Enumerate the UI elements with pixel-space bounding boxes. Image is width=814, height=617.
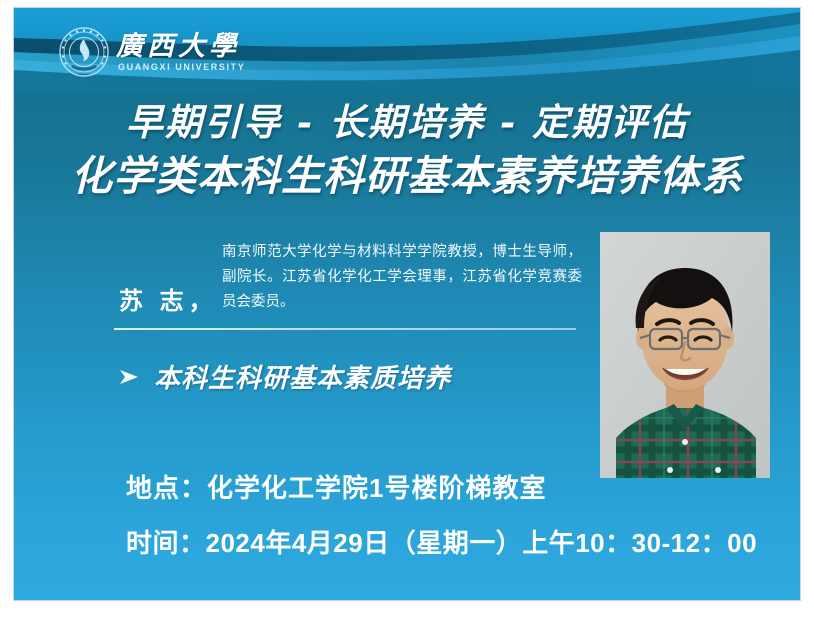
arrow-bullet-icon [118, 366, 140, 388]
logo-name-en: GUANGXI UNIVERSITY [118, 62, 245, 72]
presentation-slide: 廣西大學 GUANGXI UNIVERSITY 早期引导 - 长期培养 - 定期… [14, 8, 800, 600]
speaker-name: 苏 志， [119, 281, 218, 316]
topic-bullet-row: 本科生科研基本素质培养 [118, 358, 451, 395]
logo-name-cn: 廣西大學 [116, 24, 240, 63]
guangxi-university-seal-icon [58, 26, 110, 78]
university-logo: 廣西大學 GUANGXI UNIVERSITY [58, 22, 278, 88]
speaker-portrait [600, 232, 770, 478]
speaker-info: 苏 志， 南京师范大学化学与材料科学学院教授，博士生导师，副院长。江苏省化学化工… [114, 240, 584, 330]
title-line-1: 早期引导 - 长期培养 - 定期评估 [14, 96, 800, 148]
time-line: 时间：2024年4月29日（星期一）上午10：30-12：00 [126, 523, 757, 560]
speaker-bio: 南京师范大学化学与材料科学学院教授，博士生导师，副院长。江苏省化学化工学会理事，… [222, 240, 582, 315]
title-line-2: 化学类本科生科研基本素养培养体系 [14, 148, 800, 204]
topic-bullet-text: 本科生科研基本素质培养 [154, 358, 451, 395]
slide-title: 早期引导 - 长期培养 - 定期评估 化学类本科生科研基本素养培养体系 [14, 96, 800, 204]
divider-rule [114, 328, 576, 330]
venue-line: 地点：化学化工学院1号楼阶梯教室 [126, 468, 546, 505]
portrait-image [600, 232, 770, 478]
